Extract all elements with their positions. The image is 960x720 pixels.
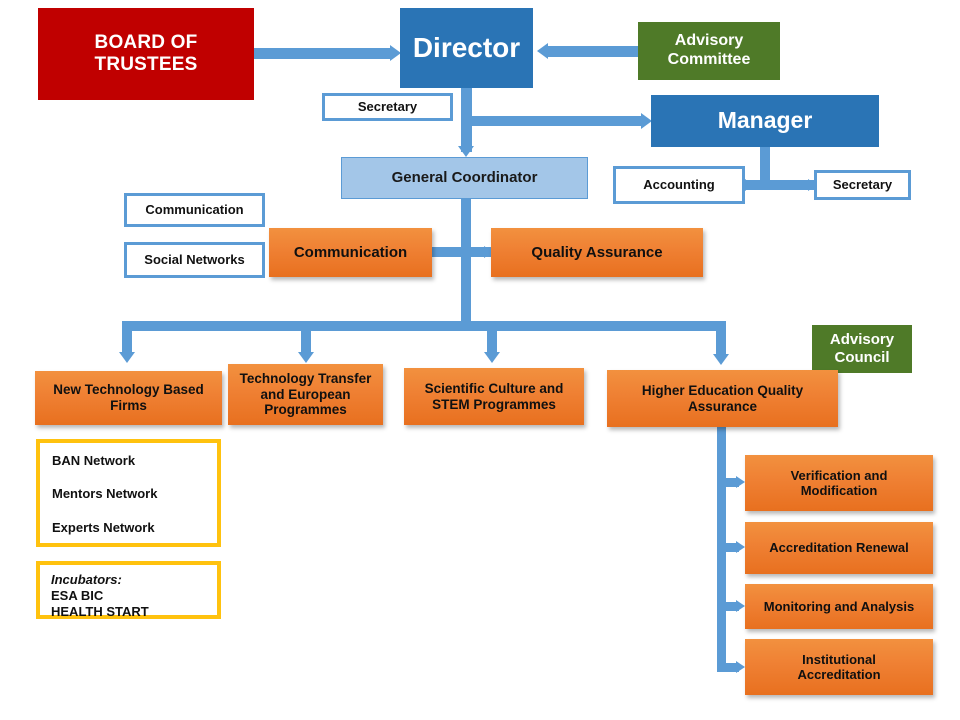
communication-white-label: Communication [145,202,243,217]
connector-advisory-committee-to-director [548,46,640,57]
node-department-technology-transfer[interactable]: Technology Transfer and European Program… [228,364,383,425]
arrowhead-dept-4 [713,354,729,365]
node-communication-white[interactable]: Communication [124,193,265,227]
node-manager[interactable]: Manager [651,95,879,147]
department-3-line-2: STEM Programmes [432,397,556,413]
network-item-2: Mentors Network [52,486,217,501]
general-coordinator-label: General Coordinator [392,169,538,187]
node-general-coordinator[interactable]: General Coordinator [341,157,588,199]
org-chart-canvas: BOARD OF TRUSTEES Director Advisory Comm… [0,0,960,720]
board-of-trustees-line-2: TRUSTEES [95,54,198,76]
director-label: Director [413,31,520,64]
node-communication-orange[interactable]: Communication [269,228,432,277]
department-1-line-1: New Technology Based [53,382,204,398]
node-incubators-box[interactable]: Incubators: ESA BIC HEALTH START [36,561,221,619]
advisory-council-line-2: Council [835,349,890,367]
connector-drop-dept-4 [716,321,726,357]
node-quality-subunit-institutional-accreditation[interactable]: Institutional Accreditation [745,639,933,695]
arrowhead-quality-sub-1 [736,476,745,488]
board-of-trustees-line-1: BOARD OF [95,32,198,54]
secretary-manager-label: Secretary [833,177,892,192]
connector-drop-dept-3 [487,321,497,355]
node-director[interactable]: Director [400,8,533,88]
incubator-item-1: ESA BIC [51,588,217,603]
secretary-director-label: Secretary [358,99,417,114]
connector-board-to-director [253,48,392,59]
arrowhead-dept-3 [484,352,500,363]
node-department-higher-education-quality-assurance[interactable]: Higher Education Quality Assurance [607,370,838,427]
advisory-committee-line-1: Advisory [675,32,743,51]
incubator-item-2: HEALTH START [51,604,217,619]
advisory-council-line-1: Advisory [830,331,894,349]
incubators-title: Incubators: [51,572,217,587]
quality-subunit-3-line-1: Monitoring and Analysis [764,599,914,614]
quality-assurance-label: Quality Assurance [531,244,662,262]
node-quality-assurance[interactable]: Quality Assurance [491,228,703,277]
department-2-line-2: and European [260,387,350,403]
node-quality-subunit-monitoring-analysis[interactable]: Monitoring and Analysis [745,584,933,629]
node-department-new-technology-based-firms[interactable]: New Technology Based Firms [35,371,222,425]
quality-subunit-1-line-1: Verification and [791,468,888,483]
connector-manager-horizontal [746,180,816,190]
connector-department-bus [122,321,726,331]
incubators-list: Incubators: ESA BIC HEALTH START [40,565,217,619]
connector-communication-quality-horizontal [432,247,492,257]
node-networks-box[interactable]: BAN Network Mentors Network Experts Netw… [36,439,221,547]
networks-list: BAN Network Mentors Network Experts Netw… [40,443,217,535]
node-social-networks[interactable]: Social Networks [124,242,265,278]
network-item-3: Experts Network [52,520,217,535]
department-4-line-2: Assurance [688,399,757,415]
communication-orange-label: Communication [294,244,407,262]
connector-general-coordinator-stem [461,198,471,326]
quality-subunit-2-line-1: Accreditation Renewal [769,540,908,555]
connector-drop-dept-1 [122,321,132,355]
node-department-scientific-culture-stem[interactable]: Scientific Culture and STEM Programmes [404,368,584,425]
department-2-line-1: Technology Transfer [240,371,372,387]
quality-subunit-4-line-1: Institutional [802,652,876,667]
arrowhead-quality-sub-2 [736,541,745,553]
connector-manager-stem [760,146,770,184]
node-quality-subunit-accreditation-renewal[interactable]: Accreditation Renewal [745,522,933,574]
accounting-label: Accounting [643,177,715,192]
advisory-committee-line-2: Committee [668,51,751,70]
connector-drop-dept-2 [301,321,311,355]
department-4-line-1: Higher Education Quality [642,383,803,399]
manager-label: Manager [718,107,813,134]
node-board-of-trustees[interactable]: BOARD OF TRUSTEES [38,8,254,100]
node-accounting[interactable]: Accounting [613,166,745,204]
node-secretary-manager[interactable]: Secretary [814,170,911,200]
arrowhead-director-to-general-coordinator [458,146,474,157]
arrowhead-advisory-committee-to-director [537,43,548,59]
arrowhead-quality-sub-3 [736,600,745,612]
node-secretary-director[interactable]: Secretary [322,93,453,121]
department-2-line-3: Programmes [264,402,347,418]
department-3-line-1: Scientific Culture and [425,381,564,397]
network-item-1: BAN Network [52,453,217,468]
quality-subunit-1-line-2: Modification [801,483,878,498]
social-networks-label: Social Networks [144,252,244,267]
node-advisory-council[interactable]: Advisory Council [812,325,912,373]
department-1-line-2: Firms [110,398,147,414]
node-advisory-committee[interactable]: Advisory Committee [638,22,780,80]
arrowhead-quality-sub-4 [736,661,745,673]
arrowhead-dept-2 [298,352,314,363]
arrowhead-dept-1 [119,352,135,363]
quality-subunit-4-line-2: Accreditation [797,667,880,682]
node-quality-subunit-verification-modification[interactable]: Verification and Modification [745,455,933,511]
connector-director-to-manager [461,116,643,126]
